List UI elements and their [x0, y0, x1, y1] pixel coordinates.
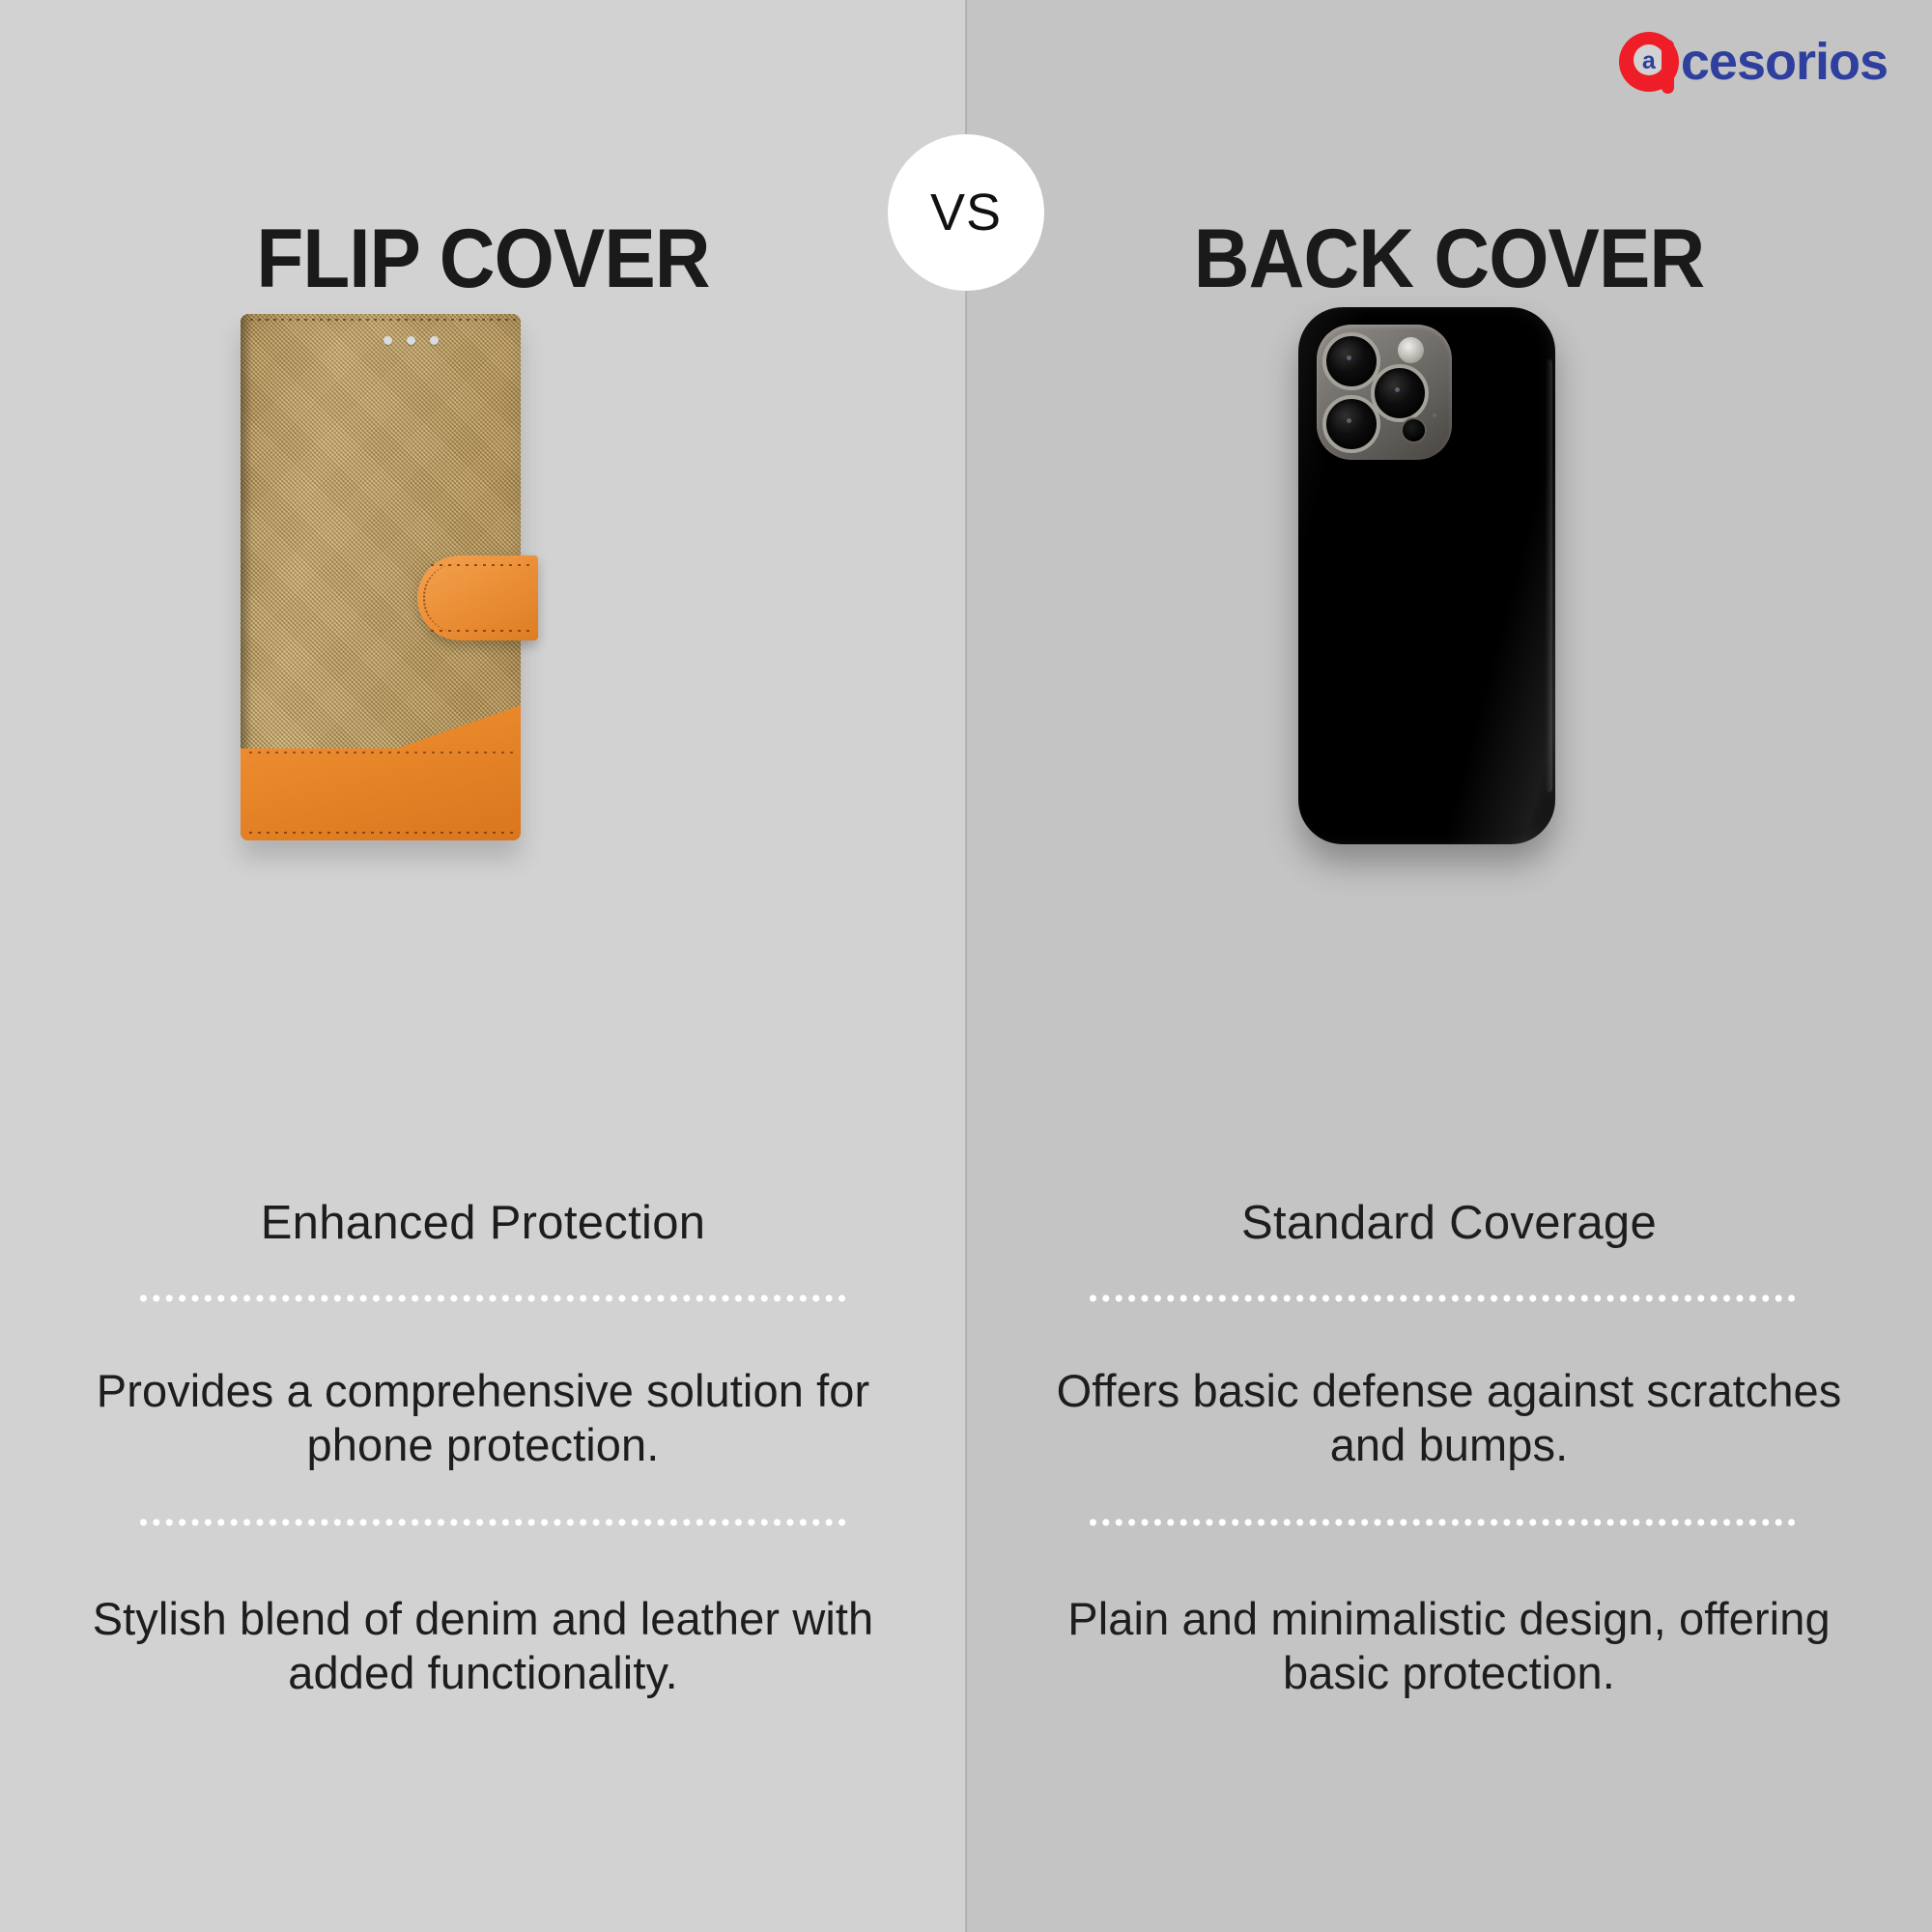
left-feature-heading-row: Enhanced Protection: [0, 1194, 966, 1252]
infographic-canvas: a cesorios FLIP COVER BACK COVER VS: [0, 0, 1932, 1932]
left-divider-1: [140, 1293, 845, 1304]
right-column-title: BACK COVER: [1000, 217, 1898, 300]
left-feature-body-row-2: Stylish blend of denim and leather with …: [0, 1592, 966, 1700]
left-feature-text-1: Provides a comprehensive solution for ph…: [0, 1364, 966, 1472]
right-feature-body-row-2: Plain and minimalistic design, offering …: [966, 1592, 1932, 1700]
logo-mark-letter: a: [1636, 48, 1662, 73]
logo-wordmark: cesorios: [1681, 36, 1888, 88]
flip-cover-magnetic-strap: [417, 555, 538, 640]
left-column-title: FLIP COVER: [34, 217, 932, 300]
back-cover-edge-highlight: [1546, 359, 1552, 792]
brand-logo[interactable]: a cesorios: [1619, 27, 1888, 97]
flip-cover-leather-panel: [241, 705, 521, 840]
right-divider-2: [1090, 1517, 1795, 1528]
lidar-sensor-icon: [1401, 417, 1427, 443]
vs-badge: VS: [888, 134, 1044, 291]
camera-lens-icon: [1322, 395, 1380, 453]
flip-cover-top-stitching: [250, 319, 517, 321]
flip-cover-product-image: [241, 314, 521, 840]
right-feature-text-1: Offers basic defense against scratches a…: [966, 1364, 1932, 1472]
left-divider-2: [140, 1517, 845, 1528]
microphone-dot-icon: [1433, 413, 1436, 417]
camera-lens-icon: [1322, 332, 1380, 390]
back-cover-product-image: [1298, 307, 1555, 844]
flip-cover-card-dots: [384, 336, 439, 345]
right-divider-1: [1090, 1293, 1795, 1304]
vs-badge-label: VS: [930, 186, 1002, 239]
logo-mark-icon: a: [1619, 32, 1679, 92]
left-feature-text-2: Stylish blend of denim and leather with …: [0, 1592, 966, 1700]
camera-lens-icon: [1371, 364, 1429, 422]
right-feature-body-row-1: Offers basic defense against scratches a…: [966, 1364, 1932, 1472]
camera-flash-icon: [1398, 337, 1424, 363]
left-feature-heading: Enhanced Protection: [0, 1194, 966, 1252]
camera-module-plate: [1317, 325, 1452, 460]
back-cover-shell: [1298, 307, 1555, 844]
right-feature-heading: Standard Coverage: [966, 1194, 1932, 1252]
right-feature-text-2: Plain and minimalistic design, offering …: [966, 1592, 1932, 1700]
right-feature-heading-row: Standard Coverage: [966, 1194, 1932, 1252]
left-feature-body-row-1: Provides a comprehensive solution for ph…: [0, 1364, 966, 1472]
